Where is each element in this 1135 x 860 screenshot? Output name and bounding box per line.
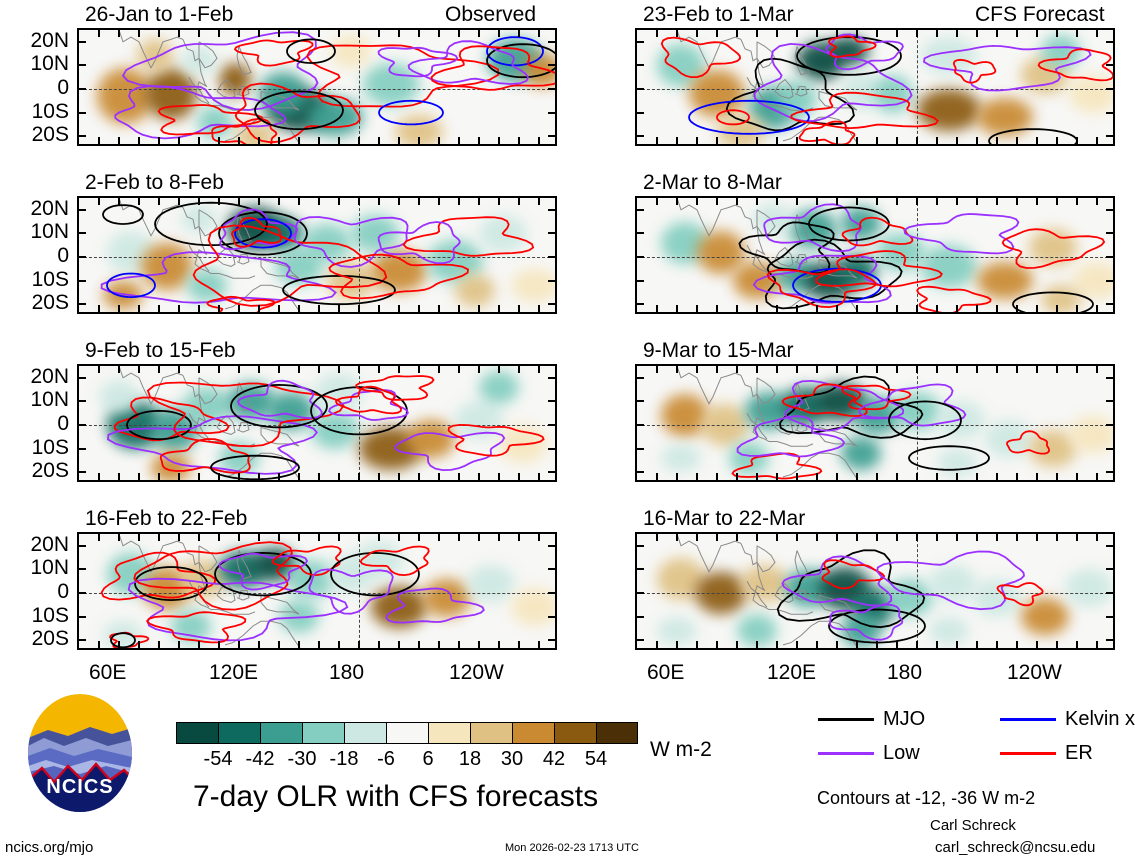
x-tick [338,534,340,541]
y-tick [637,280,644,282]
x-tick [478,198,480,205]
y-tick [637,209,644,211]
x-tick [158,534,160,541]
y-axis-label: 20N [0,534,69,555]
x-tick [676,366,678,373]
x-tick [498,305,500,312]
site-url: ncics.org/mjo [5,840,93,855]
colorbar [176,722,638,744]
x-tick [716,641,718,648]
legend-swatch-line [818,752,874,755]
x-tick [1016,198,1018,205]
x-tick [836,366,838,373]
x-tick [696,366,698,373]
y-tick [637,232,644,234]
x-tick [796,30,798,37]
x-tick [398,198,400,205]
x-tick [498,641,500,648]
wave-contour-overlay [637,366,1115,482]
x-tick [358,534,360,541]
x-tick [836,30,838,37]
x-tick [916,305,918,312]
x-tick [418,137,420,144]
map-panel[interactable] [635,364,1115,482]
x-tick [358,641,360,648]
x-tick [1076,198,1078,205]
x-tick [756,137,758,144]
y-tick [1106,112,1113,114]
colorbar-tick-label: 54 [570,749,622,769]
column-header-cfs: CFS Forecast [975,4,1105,25]
y-tick [1106,448,1113,450]
x-tick [656,473,658,480]
x-tick [238,473,240,480]
x-tick [976,641,978,648]
x-tick [138,198,140,205]
x-tick [438,534,440,541]
x-tick [1056,198,1058,205]
x-tick [298,305,300,312]
colorbar-swatch [260,722,302,744]
x-tick [278,30,280,37]
x-tick [498,137,500,144]
x-tick [1096,473,1098,480]
y-tick [1106,209,1113,211]
y-tick [548,209,555,211]
x-tick [418,473,420,480]
x-tick [358,30,360,37]
legend-item-low[interactable]: Low [818,743,920,763]
x-tick [656,198,658,205]
x-tick [138,137,140,144]
x-tick [916,534,918,541]
x-tick [916,473,918,480]
colorbar-swatch [344,722,386,744]
x-tick [278,473,280,480]
map-panel[interactable] [77,28,557,146]
y-axis-label: 10S [0,269,69,290]
x-tick [816,366,818,373]
author-email: carl_schreck@ncsu.edu [935,840,1095,855]
y-tick [79,64,86,66]
x-tick [258,30,260,37]
x-tick [198,534,200,541]
x-tick [1036,137,1038,144]
y-axis-label: 20S [0,292,69,313]
x-tick [538,366,540,373]
y-tick [1106,41,1113,43]
x-tick [158,305,160,312]
wave-contour-overlay [637,534,1115,650]
x-tick [716,137,718,144]
x-tick [816,198,818,205]
x-tick [1076,30,1078,37]
x-tick [676,473,678,480]
x-tick [98,305,100,312]
x-tick [976,305,978,312]
x-tick [956,473,958,480]
legend-label: ER [1065,743,1093,763]
x-tick [138,473,140,480]
x-tick [1036,534,1038,541]
y-tick [548,616,555,618]
x-tick [438,30,440,37]
x-tick [756,305,758,312]
x-tick [478,305,480,312]
x-tick [278,198,280,205]
x-tick [418,305,420,312]
x-tick [1076,366,1078,373]
colorbar-swatch [596,722,638,744]
x-tick [318,198,320,205]
x-tick [896,534,898,541]
x-tick [258,641,260,648]
x-tick [98,137,100,144]
y-tick [1106,616,1113,618]
x-tick [398,473,400,480]
y-tick [1106,377,1113,379]
y-tick [79,303,86,305]
y-tick [548,232,555,234]
x-tick [836,641,838,648]
x-tick [1016,137,1018,144]
x-tick [696,534,698,541]
x-tick [676,137,678,144]
x-tick [776,534,778,541]
x-tick [178,366,180,373]
x-tick [538,473,540,480]
y-tick [1106,88,1113,90]
x-tick [1076,137,1078,144]
x-tick [876,30,878,37]
x-tick [916,137,918,144]
x-tick [358,305,360,312]
y-axis-label: 20N [0,366,69,387]
y-axis-label: 10S [0,101,69,122]
x-tick [996,137,998,144]
x-tick [756,198,758,205]
y-tick [548,639,555,641]
wave-contour-overlay [79,30,557,146]
x-tick [776,641,778,648]
x-tick [876,137,878,144]
y-tick [548,592,555,594]
x-tick [398,30,400,37]
x-tick [178,641,180,648]
x-tick [378,198,380,205]
x-tick [976,473,978,480]
x-tick [796,534,798,541]
x-tick [518,366,520,373]
x-tick [736,30,738,37]
y-tick [79,112,86,114]
x-tick [936,534,938,541]
x-tick [258,137,260,144]
x-tick [796,366,798,373]
x-tick [1096,198,1098,205]
y-tick [79,471,86,473]
x-tick [158,30,160,37]
x-tick [996,366,998,373]
x-tick [696,641,698,648]
x-tick [796,137,798,144]
x-tick [158,473,160,480]
x-tick [298,534,300,541]
map-panel[interactable] [77,196,557,314]
x-tick [716,305,718,312]
x-tick [1096,366,1098,373]
x-tick [736,534,738,541]
x-tick [198,30,200,37]
y-tick [637,112,644,114]
y-axis-label: 0 [0,245,69,266]
x-tick [796,641,798,648]
x-tick [716,366,718,373]
x-tick [338,198,340,205]
map-panel[interactable] [635,196,1115,314]
x-tick [458,366,460,373]
x-tick [538,198,540,205]
x-tick [138,366,140,373]
x-tick [118,473,120,480]
x-tick [418,30,420,37]
x-tick [656,534,658,541]
x-tick [816,641,818,648]
x-tick [218,305,220,312]
x-tick [398,366,400,373]
y-tick [637,377,644,379]
x-tick [238,534,240,541]
x-tick [278,534,280,541]
x-tick [716,534,718,541]
x-tick [936,137,938,144]
x-tick [1036,366,1038,373]
x-tick [158,137,160,144]
x-tick [518,641,520,648]
map-panel[interactable] [77,532,557,650]
x-tick [518,198,520,205]
x-tick [218,473,220,480]
x-tick [178,137,180,144]
x-tick [298,366,300,373]
x-tick [776,137,778,144]
x-tick [518,473,520,480]
y-tick [637,64,644,66]
x-tick [258,473,260,480]
x-axis-label: 60E [647,662,684,683]
y-tick [637,448,644,450]
x-tick [298,641,300,648]
x-tick [796,305,798,312]
x-tick [836,534,838,541]
x-tick [956,198,958,205]
x-tick [318,137,320,144]
panel-title-3-1: 16-Mar to 22-Mar [643,508,805,529]
x-tick [518,534,520,541]
x-tick [936,305,938,312]
y-tick [1106,592,1113,594]
x-tick [278,366,280,373]
x-tick [836,198,838,205]
map-panel[interactable] [77,364,557,482]
x-tick [398,534,400,541]
x-tick [338,473,340,480]
x-tick [538,137,540,144]
legend-label: Kelvin x2 [1065,709,1135,729]
wave-contour-overlay [79,366,557,482]
y-tick [1106,232,1113,234]
x-tick [1076,534,1078,541]
y-tick [1106,135,1113,137]
map-panel[interactable] [635,532,1115,650]
x-tick [458,534,460,541]
x-tick [976,366,978,373]
x-tick [1096,641,1098,648]
x-tick [478,473,480,480]
x-tick [836,137,838,144]
x-tick [458,305,460,312]
x-tick [478,641,480,648]
x-tick [1016,30,1018,37]
y-axis-label: 10S [0,605,69,626]
x-tick [298,30,300,37]
x-tick [756,366,758,373]
legend-item-kelvin-x2[interactable]: Kelvin x2 [1000,709,1135,729]
x-tick [676,534,678,541]
legend-item-mjo[interactable]: MJO [818,709,925,729]
x-tick [736,641,738,648]
x-tick [716,473,718,480]
y-tick [637,592,644,594]
x-tick [98,534,100,541]
y-tick [79,568,86,570]
x-tick [258,366,260,373]
x-tick [916,641,918,648]
x-tick [98,198,100,205]
colorbar-swatch [554,722,596,744]
y-axis-label: 0 [0,413,69,434]
x-tick [458,198,460,205]
y-axis-label: 20N [0,30,69,51]
y-tick [79,400,86,402]
x-tick [138,534,140,541]
x-tick [478,137,480,144]
x-tick [238,305,240,312]
y-tick [79,280,86,282]
y-tick [79,256,86,258]
x-tick [696,305,698,312]
y-tick [548,424,555,426]
x-tick [258,534,260,541]
legend-item-er[interactable]: ER [1000,743,1093,763]
x-tick [278,641,280,648]
y-tick [548,280,555,282]
x-tick [1076,641,1078,648]
panel-title-2-1: 9-Mar to 15-Mar [643,340,794,361]
x-tick [338,366,340,373]
x-tick [856,473,858,480]
x-tick [936,473,938,480]
x-tick [1056,137,1058,144]
y-tick [548,471,555,473]
x-tick [996,534,998,541]
panel-title-3-0: 16-Feb to 22-Feb [85,508,247,529]
x-tick [458,473,460,480]
y-tick [548,448,555,450]
x-tick [796,473,798,480]
x-tick [876,198,878,205]
x-tick [996,198,998,205]
x-tick [218,641,220,648]
wave-contour-overlay [637,30,1115,146]
y-tick [548,303,555,305]
y-tick [637,135,644,137]
x-tick [98,366,100,373]
x-tick [1036,30,1038,37]
y-tick [548,88,555,90]
y-tick [637,303,644,305]
y-tick [1106,64,1113,66]
x-tick [518,137,520,144]
x-tick [916,198,918,205]
x-tick [238,366,240,373]
y-axis-label: 20S [0,124,69,145]
x-tick [976,198,978,205]
x-axis-label: 120W [449,662,504,683]
x-tick [318,641,320,648]
x-tick [856,137,858,144]
x-tick [936,198,938,205]
x-tick [178,198,180,205]
main-title: 7-day OLR with CFS forecasts [193,782,598,812]
x-tick [538,305,540,312]
x-tick [418,198,420,205]
x-tick [996,473,998,480]
x-tick [198,137,200,144]
x-tick [836,473,838,480]
x-tick [118,137,120,144]
panel-title-2-0: 9-Feb to 15-Feb [85,340,236,361]
colorbar-swatch [512,722,554,744]
x-tick [338,305,340,312]
x-tick [378,30,380,37]
x-tick [458,641,460,648]
x-tick [936,30,938,37]
x-tick [856,641,858,648]
x-tick [358,198,360,205]
x-tick [836,305,838,312]
colorbar-swatch [428,722,470,744]
map-panel[interactable] [635,28,1115,146]
x-tick [158,198,160,205]
x-axis-label: 120E [767,662,816,683]
x-tick [656,30,658,37]
y-tick [637,41,644,43]
x-tick [756,534,758,541]
x-tick [1056,473,1058,480]
y-axis-label: 10N [0,221,69,242]
column-header-observed: Observed [445,4,536,25]
y-tick [637,256,644,258]
x-tick [816,473,818,480]
y-tick [79,377,86,379]
x-tick [1096,137,1098,144]
x-tick [198,641,200,648]
y-tick [637,88,644,90]
x-tick [856,366,858,373]
x-tick [398,641,400,648]
y-tick [1106,303,1113,305]
